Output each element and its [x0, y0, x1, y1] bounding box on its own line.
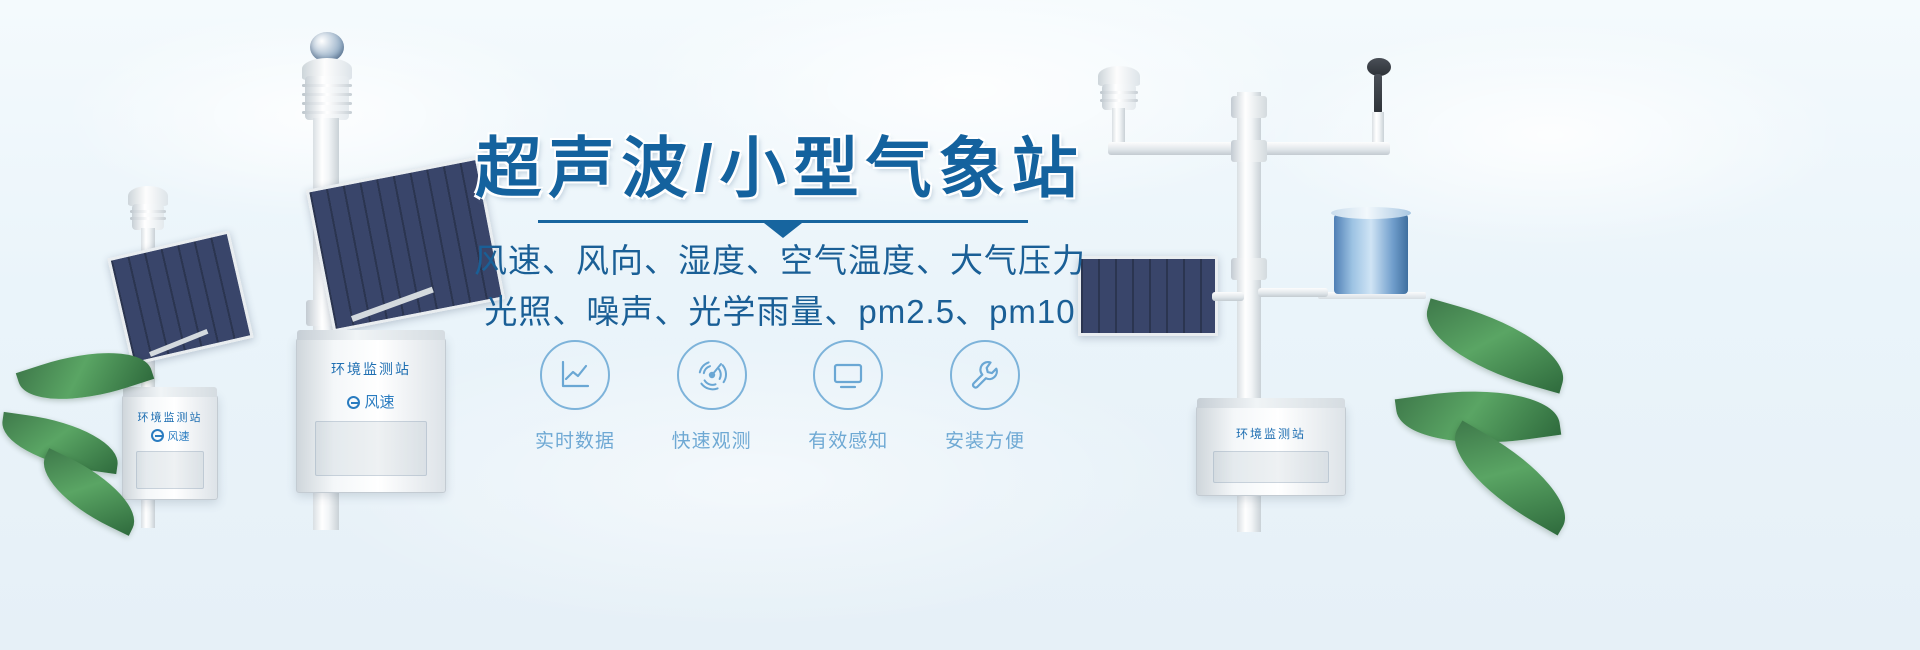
optical-rain-gauge: [1334, 214, 1408, 294]
ultrasonic-sensor-cap: [128, 186, 168, 206]
cabinet-lid: [297, 330, 445, 340]
feature-label: 快速观测: [657, 426, 767, 453]
subtitle-line-1: 风速、风向、湿度、空气温度、大气压力: [440, 234, 1120, 282]
monitor-icon: [830, 357, 866, 393]
monitoring-cabinet: 环境监测站 风速: [296, 338, 446, 493]
feature-list: 实时数据 快速观测: [520, 340, 1040, 453]
page-title: 超声波/小型气象站: [440, 115, 1120, 211]
rain-gauge-rim: [1331, 207, 1411, 219]
feature-label: 有效感知: [793, 426, 903, 453]
monitoring-cabinet: 环境监测站 风速: [122, 395, 218, 500]
feature-effective-sensing[interactable]: 有效感知: [793, 340, 903, 453]
wrench-icon: [967, 357, 1003, 393]
shelf-support-arm: [1258, 288, 1328, 297]
cabinet-lid: [1197, 398, 1345, 408]
feature-fast-observation[interactable]: 快速观测: [657, 340, 767, 453]
shield-fin: [302, 84, 352, 87]
feature-easy-installation[interactable]: 安装方便: [930, 340, 1040, 453]
title-divider: [538, 212, 1028, 234]
brand-mark-icon: [151, 429, 164, 442]
cabinet-label: 环境监测站: [1197, 425, 1345, 442]
cabinet-brand: 风速: [123, 428, 217, 444]
cabinet-door: [136, 451, 204, 489]
cabinet-door: [1213, 451, 1329, 483]
shield-fin: [302, 93, 352, 96]
feature-icon-circle: [540, 340, 610, 410]
panel-support-arm: [1212, 292, 1244, 301]
brand-mark-icon: [347, 396, 360, 409]
cabinet-label: 环境监测站: [297, 359, 445, 379]
pole-collar: [1231, 96, 1267, 118]
shield-fin: [302, 102, 352, 105]
radar-signal-icon: [694, 357, 730, 393]
cabinet-door: [315, 421, 427, 476]
shield-fin: [302, 111, 352, 114]
sensor-fin: [130, 210, 166, 213]
monitoring-cabinet: 环境监测站: [1196, 406, 1346, 496]
sensor-fin: [130, 217, 166, 220]
cabinet-lid: [123, 387, 217, 397]
feature-realtime-data[interactable]: 实时数据: [520, 340, 630, 453]
wind-vane-stem: [1374, 74, 1382, 114]
banner-content: 超声波/小型气象站 风速、风向、湿度、空气温度、大气压力 光照、噪声、光学雨量、…: [440, 0, 1120, 650]
pole-collar: [1231, 140, 1267, 162]
feature-label: 实时数据: [520, 426, 630, 453]
cabinet-label: 环境监测站: [123, 409, 217, 425]
feature-icon-circle: [950, 340, 1020, 410]
feature-icon-circle: [677, 340, 747, 410]
product-banner: 环境监测站 风速 环境监测站 风速: [0, 0, 1920, 650]
feature-icon-circle: [813, 340, 883, 410]
feature-label: 安装方便: [930, 426, 1040, 453]
line-chart-icon: [557, 357, 593, 393]
subtitle-line-2: 光照、噪声、光学雨量、pm2.5、pm10: [440, 285, 1120, 333]
pole-collar: [1231, 258, 1267, 280]
cabinet-brand: 风速: [297, 391, 445, 412]
